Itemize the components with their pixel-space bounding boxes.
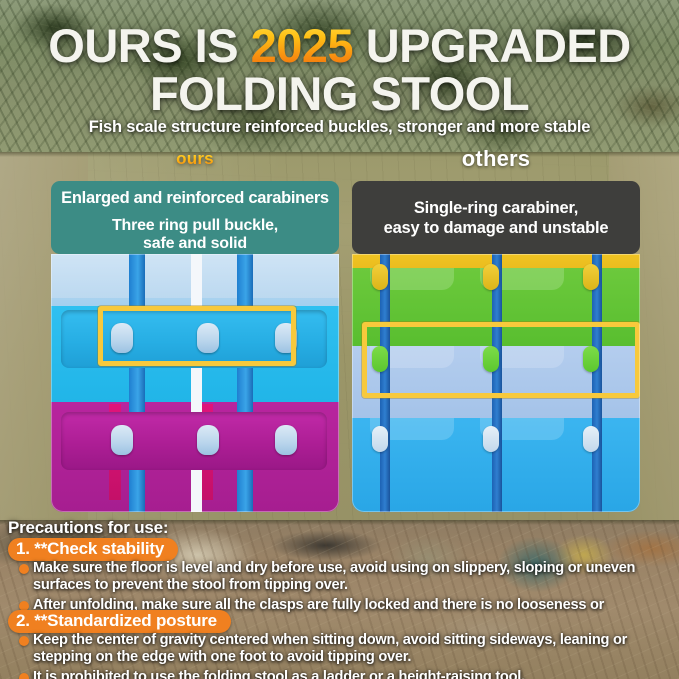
caption-card-ours: Enlarged and reinforced carabiners Three… <box>51 181 339 254</box>
subtitle: Fish scale structure reinforced buckles,… <box>0 118 679 137</box>
caption-others-text: Single-ring carabiner, easy to damage an… <box>384 198 609 238</box>
caption-ours-line-2b: safe and solid <box>59 235 331 253</box>
list-item: It is prohibited to use the folding stoo… <box>18 669 673 679</box>
ring-buckle-icon <box>197 425 219 455</box>
precaution-heading-1: 1. **Check stability <box>8 538 178 561</box>
caption-ours-line-2a: Three ring pull buckle, <box>59 217 331 235</box>
list-item: Keep the center of gravity centered when… <box>18 632 673 666</box>
single-ring-carabiner-icon <box>483 264 499 290</box>
single-ring-carabiner-icon <box>372 264 388 290</box>
three-ring-buckle-strip-lower <box>61 412 327 470</box>
single-ring-carabiner-icon <box>583 426 599 452</box>
headline-part-2: UPGRADED <box>353 19 631 72</box>
single-ring-carabiner-icon <box>583 264 599 290</box>
caption-ours-line-2: Three ring pull buckle, safe and solid <box>59 217 331 253</box>
highlight-box-others <box>362 322 640 398</box>
headline: OURS IS 2025 UPGRADED FOLDING STOOL <box>0 22 679 118</box>
single-ring-carabiner-icon <box>372 426 388 452</box>
list-item: Make sure the floor is level and dry bef… <box>18 560 673 594</box>
caption-card-others: Single-ring carabiner, easy to damage an… <box>352 181 640 254</box>
product-infographic: OURS IS 2025 UPGRADED FOLDING STOOL Fish… <box>0 0 679 679</box>
precaution-heading-2-wrap: 2. **Standardized posture <box>8 610 679 633</box>
product-photo-ours <box>51 254 339 512</box>
caption-others-line-1: Single-ring carabiner, <box>384 198 609 218</box>
ring-buckle-icon <box>111 425 133 455</box>
stool-vertical-rail-2 <box>237 254 253 512</box>
headline-part-1: OURS IS <box>48 19 250 72</box>
precautions-title: Precautions for use: <box>8 518 308 538</box>
product-photo-others <box>352 254 640 512</box>
precaution-heading-1-wrap: 1. **Check stability <box>8 538 679 561</box>
caption-ours-line-1: Enlarged and reinforced carabiners <box>59 188 331 208</box>
caption-others-line-2: easy to damage and unstable <box>384 218 609 238</box>
headline-line-2: FOLDING STOOL <box>0 70 679 118</box>
ring-buckle-icon <box>275 425 297 455</box>
precaution-heading-2: 2. **Standardized posture <box>8 610 231 633</box>
column-label-ours: ours <box>51 149 339 169</box>
stool-vertical-rail-1 <box>129 254 145 512</box>
headline-year: 2025 <box>251 19 354 72</box>
single-ring-carabiner-icon <box>483 426 499 452</box>
highlight-box-ours <box>98 306 296 366</box>
stool-vertical-gap <box>191 254 202 512</box>
precaution-bullets-2: Keep the center of gravity centered when… <box>18 632 673 679</box>
column-label-others: others <box>352 146 640 172</box>
